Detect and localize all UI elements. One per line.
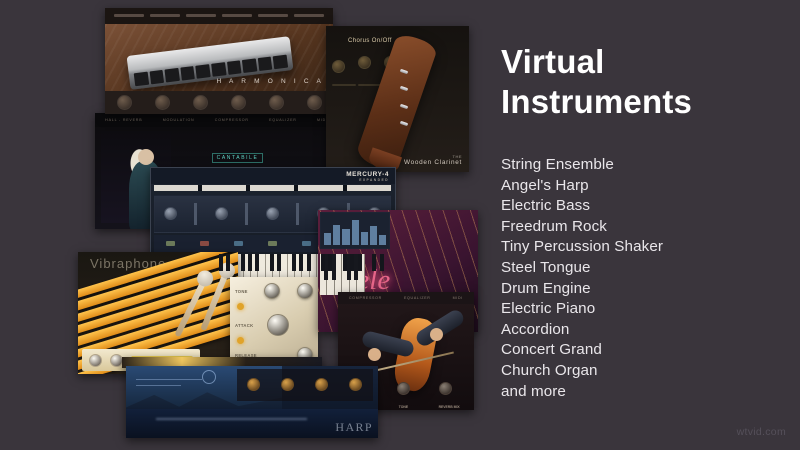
list-item: Church Organ <box>501 361 791 382</box>
list-item: Freedrum Rock <box>501 217 791 238</box>
cantabile-badge: CANTABILE <box>212 153 264 163</box>
led-indicator <box>237 303 244 310</box>
slide-canvas: HALL - REVERB MODULATION COMPRESSOR EQUA… <box>0 0 800 450</box>
nav-item[interactable] <box>294 14 324 17</box>
list-item: Accordion <box>501 320 791 341</box>
eq-bar[interactable] <box>361 232 368 245</box>
instrument-collage: HALL - REVERB MODULATION COMPRESSOR EQUA… <box>0 0 500 450</box>
clarinet-image <box>354 31 438 172</box>
reed-hole <box>180 66 195 81</box>
page-title: Virtual Instruments <box>501 42 791 122</box>
knob[interactable] <box>349 378 362 391</box>
knob[interactable] <box>117 95 132 110</box>
knob[interactable] <box>89 354 102 367</box>
list-item: Electric Piano <box>501 299 791 320</box>
control-label: ATTACK <box>235 323 253 328</box>
toggle-button[interactable] <box>200 241 209 246</box>
nav-item[interactable]: HALL - REVERB <box>105 118 142 122</box>
collage-panel-wooden-clarinet[interactable]: Chorus On/Off THE Wooden Clarinet <box>326 26 469 172</box>
mercury-brand: MERCURY-4 EXPANDED <box>346 171 389 182</box>
knob[interactable] <box>281 378 294 391</box>
harmonica-knob-row[interactable] <box>105 91 333 114</box>
reed-hole <box>164 68 179 83</box>
watermark: wtvid.com <box>737 426 786 438</box>
preset-slot[interactable] <box>250 185 294 191</box>
preset-slot[interactable] <box>347 185 391 191</box>
knob[interactable] <box>269 95 284 110</box>
knob[interactable] <box>266 207 279 220</box>
nav-item[interactable] <box>222 14 252 17</box>
knob[interactable] <box>193 95 208 110</box>
harp-knob-row[interactable] <box>237 369 373 401</box>
nav-item[interactable]: MIDI <box>453 296 463 300</box>
reed-hole <box>226 60 241 75</box>
title-line-1: Virtual <box>501 43 605 80</box>
fader[interactable] <box>194 203 197 225</box>
product-prefix: THE <box>404 154 462 159</box>
list-item: Steel Tongue <box>501 258 791 279</box>
nav-item[interactable]: MODULATION <box>163 118 195 122</box>
preset-slot[interactable] <box>298 185 342 191</box>
knob[interactable] <box>297 283 313 299</box>
list-item: Electric Bass <box>501 196 791 217</box>
eq-bar[interactable] <box>324 233 331 244</box>
player-hand <box>430 328 443 341</box>
list-item: and more <box>501 382 791 403</box>
nav-item[interactable]: EQUALIZER <box>404 296 431 300</box>
reed-hole <box>273 55 288 70</box>
reed-hole <box>149 70 164 85</box>
white-key[interactable] <box>335 254 342 295</box>
dial-control[interactable] <box>202 370 216 384</box>
eq-bar[interactable] <box>352 220 359 244</box>
knob[interactable] <box>332 60 345 73</box>
list-item: Concert Grand <box>501 340 791 361</box>
eq-bar[interactable] <box>333 225 340 245</box>
knob[interactable] <box>247 378 260 391</box>
chorus-label: Chorus On/Off <box>348 38 392 44</box>
guide-line <box>136 379 202 380</box>
preset-slot[interactable] <box>154 185 198 191</box>
title-line-2: Instruments <box>501 82 791 122</box>
slider[interactable] <box>332 84 356 86</box>
list-item: Tiny Percussion Shaker <box>501 237 791 258</box>
reed-hole <box>195 64 210 79</box>
led-indicator <box>237 337 244 344</box>
reed-hole <box>257 57 272 72</box>
product-name: Wooden Clarinet <box>404 159 462 166</box>
collage-panel-cream-controls[interactable]: TONE ATTACK RELEASE <box>230 277 318 369</box>
nav-item[interactable]: COMPRESSOR <box>349 296 382 300</box>
knob[interactable] <box>397 382 410 395</box>
nav-item[interactable] <box>150 14 180 17</box>
list-item: Drum Engine <box>501 279 791 300</box>
equalizer-graph[interactable] <box>320 212 390 249</box>
reed-hole <box>133 72 148 87</box>
toggle-button[interactable] <box>234 241 243 246</box>
brand-sub: EXPANDED <box>346 178 389 182</box>
control-label: TONE <box>235 289 248 294</box>
nav-item[interactable]: EQUALIZER <box>269 118 297 122</box>
toggle-button[interactable] <box>166 241 175 246</box>
eq-bar[interactable] <box>370 226 377 245</box>
clarinet-product-label: THE Wooden Clarinet <box>404 154 462 166</box>
list-item: String Ensemble <box>501 155 791 176</box>
knob[interactable] <box>155 95 170 110</box>
nav-item[interactable] <box>186 14 216 17</box>
list-item: Angel's Harp <box>501 176 791 197</box>
knob-label: REVERB MIX <box>439 405 460 409</box>
instrument-list: String Ensemble Angel's Harp Electric Ba… <box>501 155 791 402</box>
reed-hole <box>242 59 257 74</box>
nav-item[interactable] <box>114 14 144 17</box>
reed-hole <box>211 62 226 77</box>
nav-item[interactable]: COMPRESSOR <box>215 118 249 122</box>
player-hand <box>368 348 381 361</box>
collage-panel-harp[interactable]: HARP <box>126 366 378 438</box>
fader[interactable] <box>245 203 248 225</box>
knob[interactable] <box>231 95 246 110</box>
knob[interactable] <box>164 207 177 220</box>
fader[interactable] <box>296 203 299 225</box>
knob-group[interactable]: REVERB MIX <box>439 382 460 411</box>
knob-label: TONE <box>399 405 408 409</box>
guide-line <box>136 385 181 386</box>
dark-panel-nav[interactable]: HALL - REVERB MODULATION COMPRESSOR EQUA… <box>95 113 338 127</box>
preset-rail[interactable] <box>154 185 391 191</box>
collage-panel-harmonica[interactable]: H A R M O N I C A <box>105 8 333 114</box>
eq-bar[interactable] <box>342 229 349 245</box>
knob[interactable] <box>315 378 328 391</box>
control-row[interactable]: TONE <box>235 281 313 301</box>
cello-nav[interactable]: COMPRESSOR EQUALIZER MIDI <box>338 292 474 304</box>
eq-bar[interactable] <box>379 235 386 245</box>
knob-depth[interactable] <box>358 56 371 69</box>
knob-group[interactable]: TONE <box>397 382 410 411</box>
harmonica-nav[interactable] <box>105 8 333 24</box>
harmonica-product-label: H A R M O N I C A <box>217 78 325 85</box>
knob[interactable] <box>215 207 228 220</box>
brand-name: MERCURY-4 <box>346 171 389 178</box>
main-knob[interactable] <box>267 314 289 336</box>
knob[interactable] <box>264 283 280 299</box>
knob[interactable] <box>439 382 452 395</box>
preset-slot[interactable] <box>202 185 246 191</box>
toggle-button[interactable] <box>302 241 311 246</box>
collage-panel-vibraphone[interactable]: Vibraphone <box>78 252 238 374</box>
nav-item[interactable] <box>258 14 288 17</box>
knob[interactable] <box>307 95 322 110</box>
harp-product-label: HARP <box>335 420 373 435</box>
toggle-button[interactable] <box>268 241 277 246</box>
